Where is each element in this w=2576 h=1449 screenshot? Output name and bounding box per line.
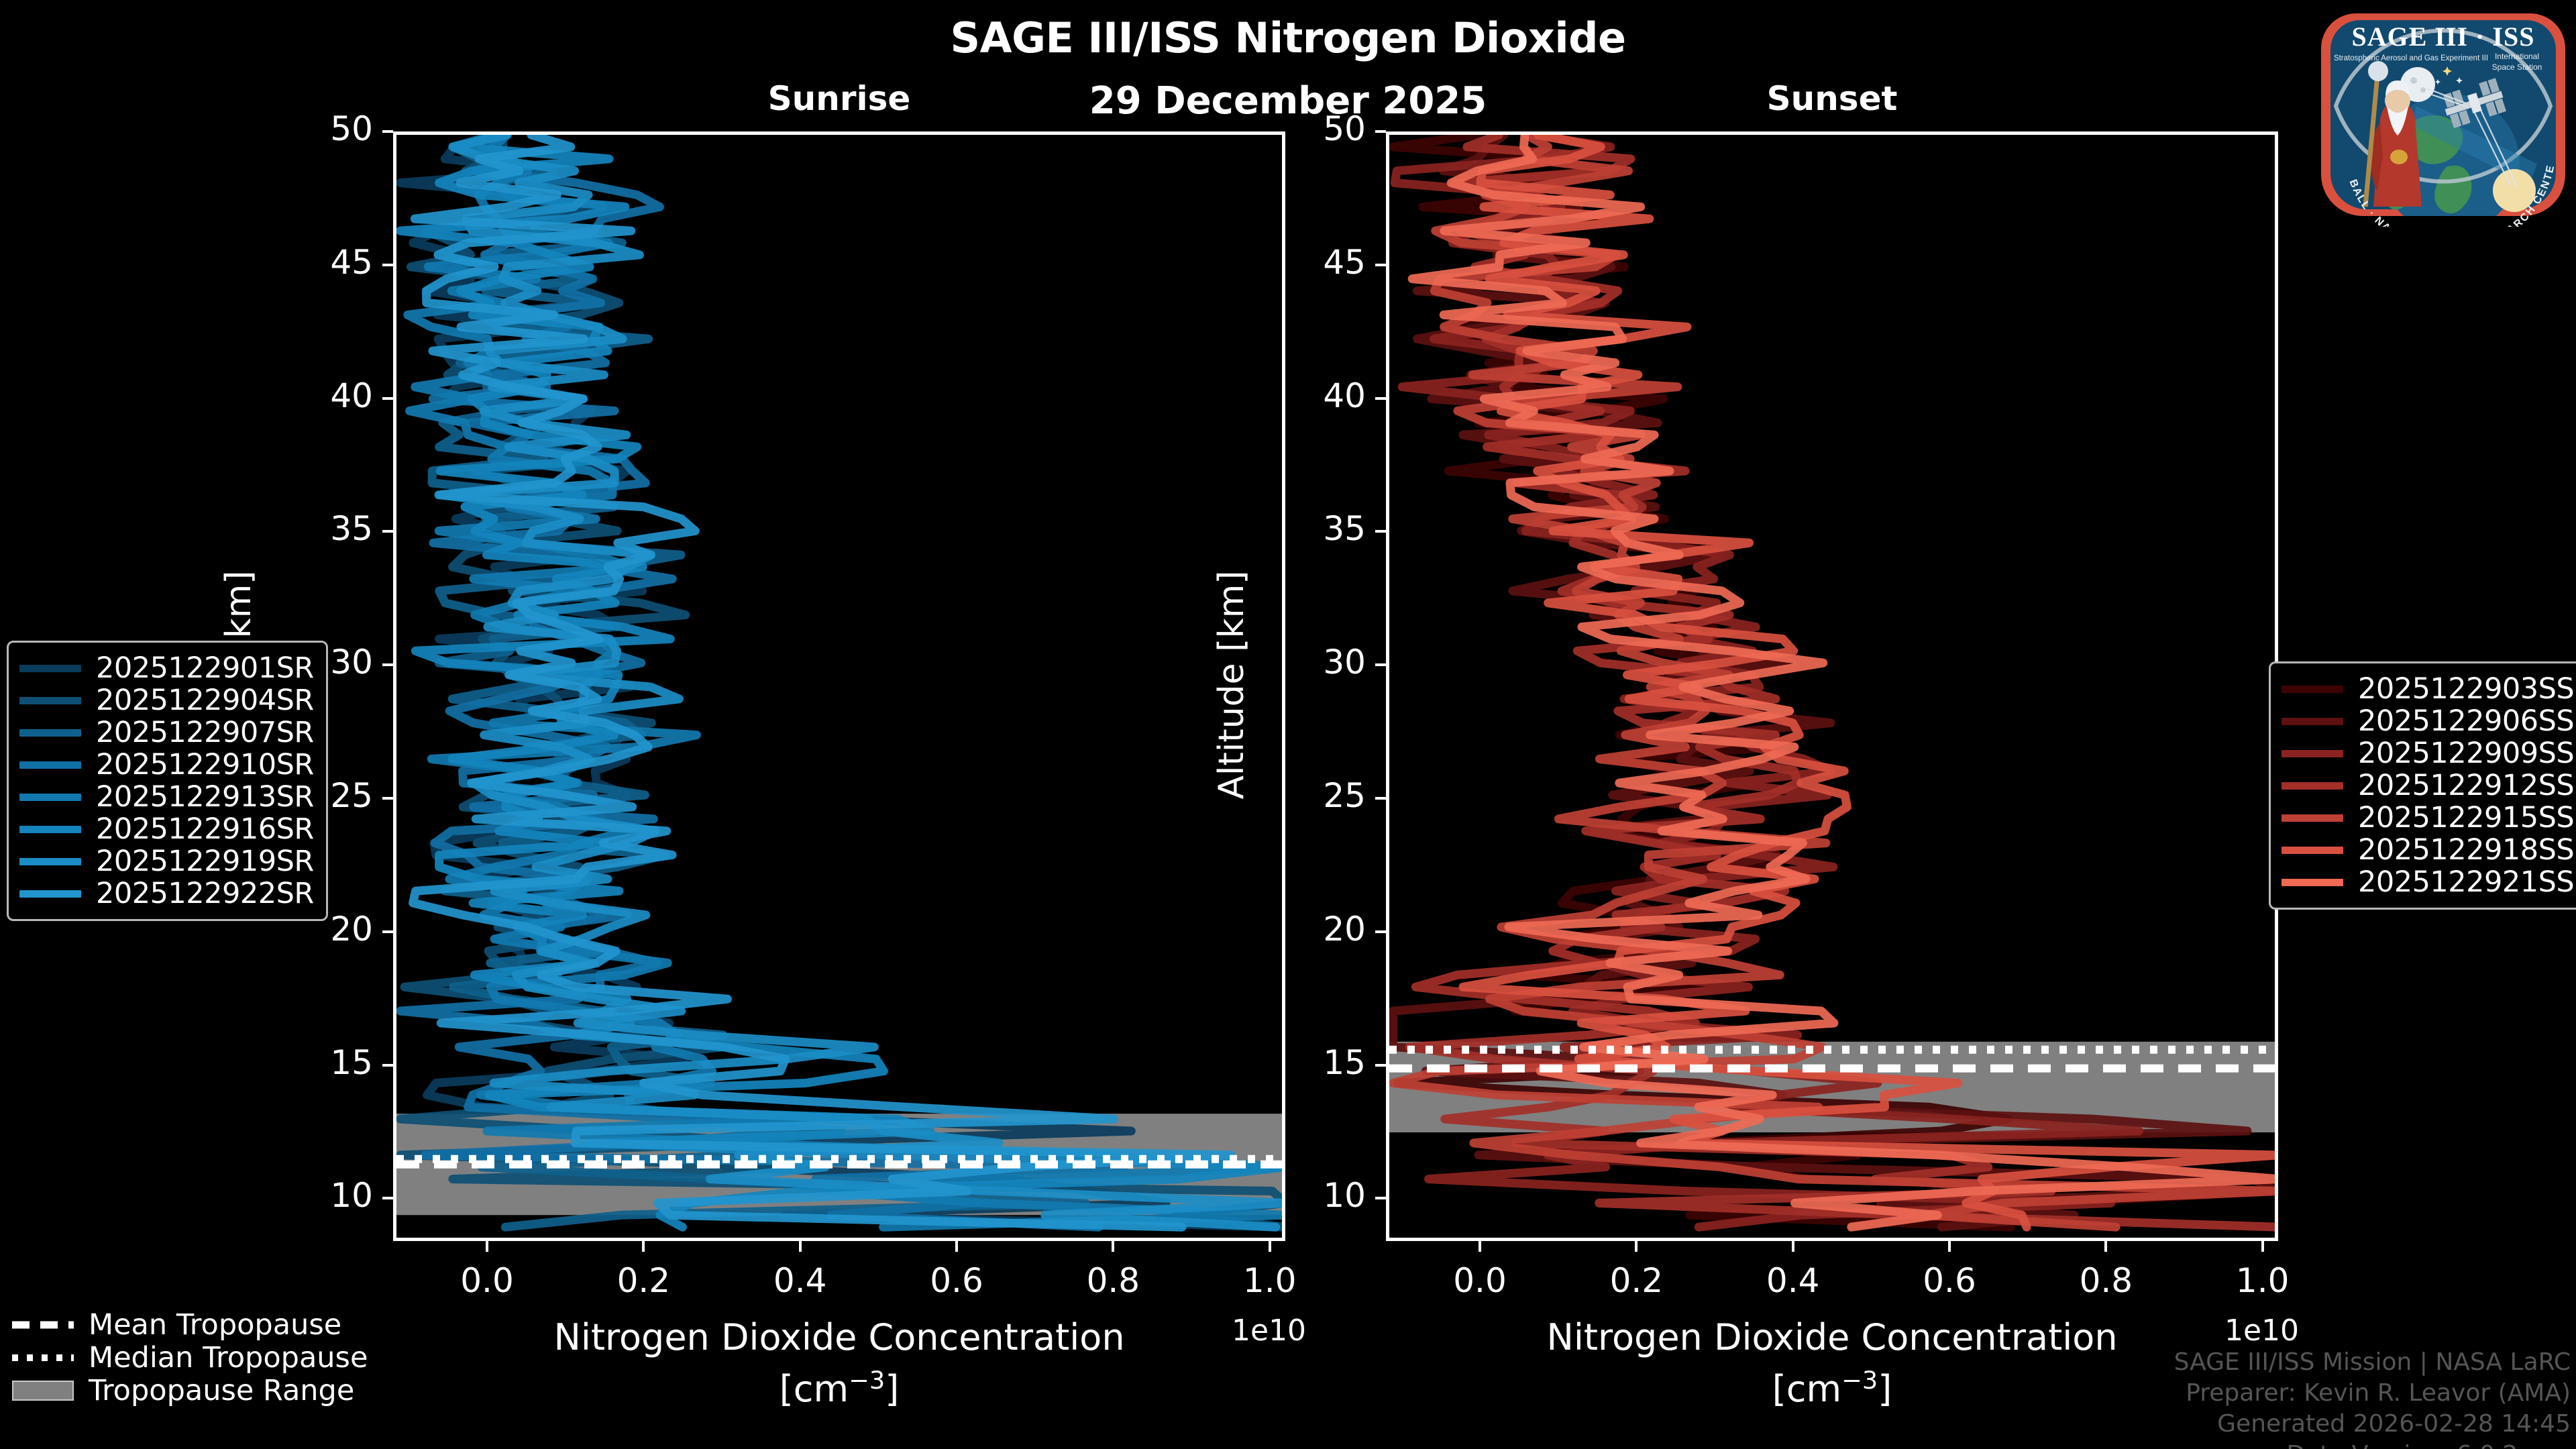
legend-item[interactable]: 2025122904SR (19, 684, 314, 716)
y-tick-mark (1375, 663, 1386, 666)
x-tick-label: 0.4 (1739, 1261, 1847, 1300)
x-tick-mark (1792, 1241, 1794, 1252)
svg-text:Space Station: Space Station (2492, 62, 2542, 72)
x-tick-label: 0.4 (747, 1261, 854, 1300)
legend-item[interactable]: 2025122907SR (19, 716, 314, 749)
legend-item[interactable]: 2025122919SR (19, 845, 314, 877)
y-tick-label: 25 (1285, 776, 1366, 815)
x-tick-label: 0.6 (903, 1261, 1010, 1300)
x-tick-label: 0.6 (1896, 1261, 2003, 1300)
y-tick-label: 10 (1285, 1176, 1366, 1215)
y-tick-mark (1375, 1197, 1386, 1199)
legend-color-swatch (2282, 782, 2343, 790)
credits-line: Generated 2026-02-28 14:45 (1967, 1409, 2571, 1440)
y-tick-mark (382, 530, 393, 533)
legend-item[interactable]: 2025122918SS (2282, 834, 2574, 866)
x-tick-label: 0.0 (1426, 1261, 1534, 1300)
legend-color-swatch (19, 826, 81, 833)
legend-item[interactable]: 2025122909SS (2282, 737, 2574, 769)
median-tropopause-swatch (12, 1348, 74, 1368)
x-tick-mark (1269, 1241, 1271, 1252)
x-axis-label-sunrise: Nitrogen Dioxide Concentration (313, 1316, 1366, 1358)
legend-color-swatch (2282, 686, 2343, 693)
y-tick-mark (382, 130, 393, 133)
legend-color-swatch (19, 794, 81, 801)
y-tick-label: 45 (292, 243, 373, 282)
legend-color-swatch (2282, 750, 2343, 757)
x-tick-mark (486, 1241, 488, 1252)
x-tick-mark (1635, 1241, 1638, 1252)
y-tick-label: 15 (1285, 1043, 1366, 1082)
legend-item-label: 2025122921SS (2358, 865, 2574, 899)
x-axis-units-sunrise: [cm−3] (313, 1366, 1366, 1410)
x-tick-mark (1112, 1241, 1114, 1252)
legend-tropopause[interactable]: Mean TropopauseMedian TropopauseTropopau… (12, 1308, 368, 1407)
x-tick-label: 0.8 (2052, 1261, 2159, 1300)
y-tick-label: 40 (1285, 376, 1366, 415)
legend-color-swatch (19, 890, 81, 898)
y-tick-mark (382, 663, 393, 666)
x-tick-mark (955, 1241, 958, 1252)
y-axis-label-sunset: Altitude [km] (1212, 130, 1252, 1240)
x-tick-mark (642, 1241, 645, 1252)
x-tick-label: 1.0 (1216, 1261, 1324, 1300)
legend-item[interactable]: 2025122913SR (19, 781, 314, 813)
legend-item[interactable]: 2025122901SR (19, 652, 314, 684)
x-tick-mark (2104, 1241, 2107, 1252)
panel-title-sunset: Sunset (1252, 79, 2412, 118)
legend-color-swatch (2282, 879, 2343, 886)
plot-axes-sunset (1386, 131, 2278, 1241)
y-tick-mark (382, 1197, 393, 1199)
svg-text:SAGE III · ISS: SAGE III · ISS (2351, 21, 2534, 52)
legend-item[interactable]: 2025122921SS (2282, 866, 2574, 898)
x-tick-mark (799, 1241, 802, 1252)
y-tick-mark (382, 1064, 393, 1067)
y-tick-label: 10 (292, 1176, 373, 1215)
legend-item[interactable]: 2025122912SS (2282, 769, 2574, 802)
x-tick-label: 0.2 (590, 1261, 697, 1300)
legend-color-swatch (19, 697, 81, 704)
figure-canvas: SAGE III/ISS Nitrogen Dioxide 29 Decembe… (0, 0, 2576, 1449)
y-tick-label: 45 (1285, 243, 1366, 282)
credits-line: Preparer: Kevin R. Leavor (AMA) (1967, 1378, 2571, 1409)
legend-item-label: 2025122904SR (96, 684, 314, 717)
legend-item[interactable]: Median Tropopause (12, 1341, 368, 1374)
legend-item-label: 2025122909SS (2358, 737, 2574, 770)
y-tick-label: 35 (292, 509, 373, 548)
legend-sunrise[interactable]: 2025122901SR2025122904SR2025122907SR2025… (7, 641, 328, 921)
y-tick-label: 40 (292, 376, 373, 415)
legend-color-swatch (19, 729, 81, 737)
x-tick-mark (1948, 1241, 1951, 1252)
legend-item-label: 2025122907SR (96, 716, 314, 749)
legend-item[interactable]: 2025122922SR (19, 877, 314, 910)
mean-tropopause-swatch (12, 1315, 74, 1335)
y-tick-mark (1375, 797, 1386, 800)
y-tick-mark (382, 797, 393, 800)
y-tick-label: 30 (1285, 643, 1366, 682)
legend-item-label: 2025122912SS (2358, 769, 2574, 802)
legend-item-label: 2025122906SS (2358, 704, 2574, 738)
legend-item[interactable]: 2025122916SR (19, 813, 314, 845)
legend-item-label: 2025122916SR (96, 812, 314, 846)
legend-color-swatch (2282, 718, 2343, 725)
profile-lines-sunset (1389, 135, 2278, 1241)
y-tick-mark (1375, 264, 1386, 266)
legend-item-label: Mean Tropopause (89, 1308, 341, 1342)
legend-color-swatch (2282, 814, 2343, 822)
tropopause-range-swatch (12, 1381, 74, 1401)
panel-title-sunrise: Sunrise (259, 79, 1419, 118)
y-tick-mark (1375, 397, 1386, 400)
legend-item-label: 2025122922SR (96, 877, 314, 910)
y-tick-mark (1375, 1064, 1386, 1067)
profile-lines-sunrise (396, 135, 1285, 1241)
sage-iii-iss-mission-patch: BALL · NASA · LANGLEY RESEARCH CENTER · … (2316, 5, 2571, 227)
svg-text:International: International (2495, 52, 2539, 61)
y-tick-label: 35 (1285, 509, 1366, 548)
x-tick-label: 0.2 (1582, 1261, 1690, 1300)
legend-item-label: 2025122903SS (2358, 672, 2574, 706)
legend-color-swatch (19, 761, 81, 769)
legend-item-label: 2025122919SR (96, 845, 314, 878)
legend-item[interactable]: Tropopause Range (12, 1374, 368, 1407)
legend-item[interactable]: 2025122915SS (2282, 802, 2574, 834)
legend-color-swatch (2282, 847, 2343, 854)
x-tick-label: 0.0 (433, 1261, 541, 1300)
figure-suptitle: SAGE III/ISS Nitrogen Dioxide (0, 13, 2576, 62)
svg-text:Stratospheric Aerosol and Gas: Stratospheric Aerosol and Gas Experiment… (2334, 54, 2488, 62)
credits-block: SAGE III/ISS Mission | NASA LaRCPreparer… (1967, 1347, 2571, 1449)
y-tick-label: 50 (1285, 109, 1366, 148)
legend-item-label: 2025122901SR (96, 651, 314, 685)
y-tick-mark (382, 264, 393, 266)
y-tick-mark (382, 397, 393, 400)
credits-line: Data Version: 6.0.2-exp (1967, 1440, 2571, 1449)
y-tick-mark (1375, 130, 1386, 133)
legend-item[interactable]: 2025122903SS (2282, 673, 2574, 705)
legend-sunset[interactable]: 2025122903SS2025122906SS2025122909SS2025… (2269, 661, 2576, 910)
legend-item[interactable]: 2025122910SR (19, 749, 314, 781)
y-tick-label: 50 (292, 109, 373, 148)
y-tick-mark (1375, 930, 1386, 933)
legend-item-label: 2025122910SR (96, 748, 314, 782)
y-tick-label: 15 (292, 1043, 373, 1082)
plot-axes-sunrise (393, 131, 1285, 1241)
x-axis-offset-sunset: 1e10 (2224, 1313, 2299, 1348)
x-tick-mark (2261, 1241, 2264, 1252)
legend-item[interactable]: 2025122906SS (2282, 705, 2574, 737)
legend-item-label: Tropopause Range (89, 1374, 354, 1407)
legend-item-label: 2025122913SR (96, 780, 314, 814)
legend-color-swatch (19, 665, 81, 672)
x-tick-label: 1.0 (2209, 1261, 2316, 1300)
legend-color-swatch (19, 858, 81, 865)
legend-item-label: Median Tropopause (89, 1341, 368, 1375)
y-tick-mark (1375, 530, 1386, 533)
x-axis-offset-sunrise: 1e10 (1232, 1313, 1306, 1348)
legend-item[interactable]: Mean Tropopause (12, 1308, 368, 1341)
legend-item-label: 2025122918SS (2358, 833, 2574, 867)
credits-line: SAGE III/ISS Mission | NASA LaRC (1967, 1347, 2571, 1378)
y-tick-label: 20 (1285, 910, 1366, 949)
legend-item-label: 2025122915SS (2358, 801, 2574, 835)
x-tick-mark (1479, 1241, 1481, 1252)
y-tick-mark (382, 930, 393, 933)
x-tick-label: 0.8 (1059, 1261, 1167, 1300)
